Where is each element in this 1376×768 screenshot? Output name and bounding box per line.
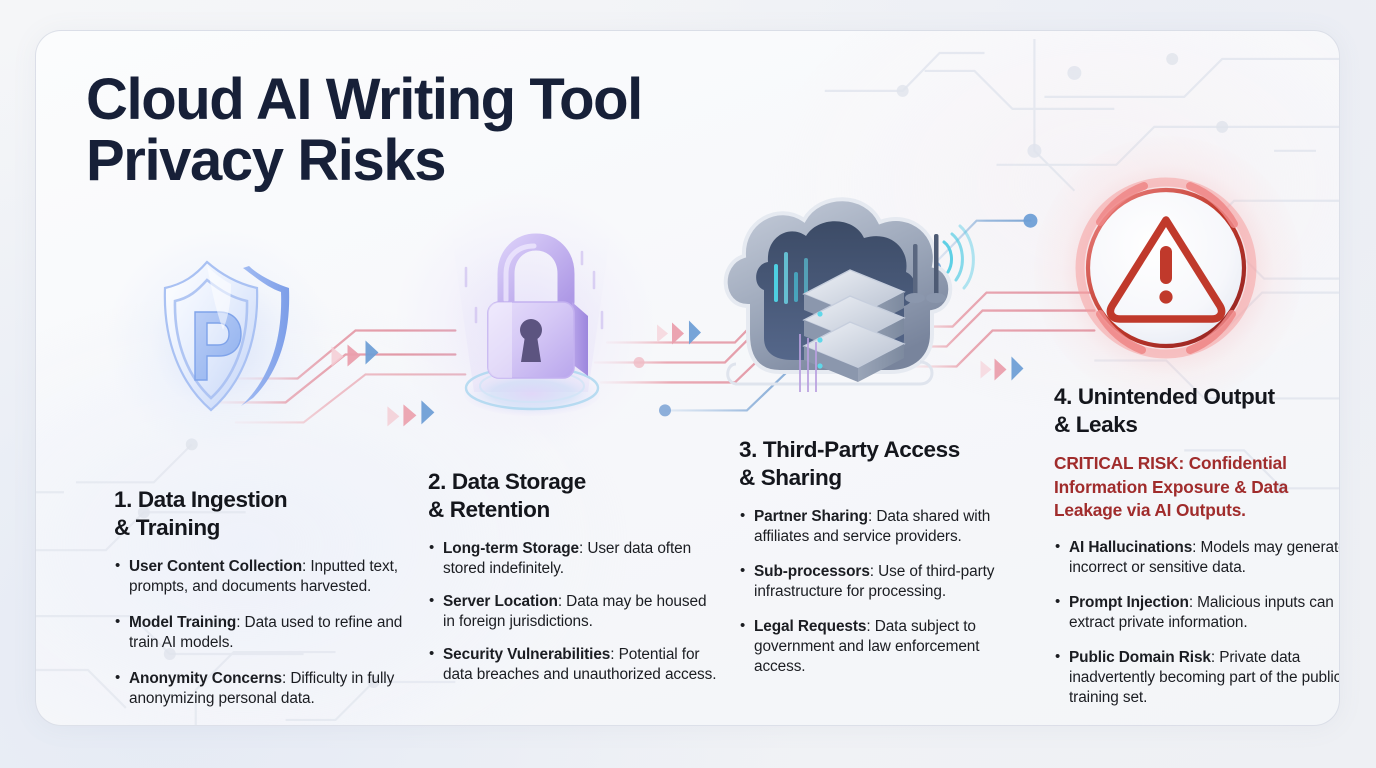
- infographic-card: Cloud AI Writing Tool Privacy Risks: [35, 30, 1340, 726]
- list-item: Security Vulnerabilities: Potential for …: [428, 645, 718, 685]
- bullet-term: Security Vulnerabilities: [443, 646, 610, 663]
- privacy-shield-icon: [131, 246, 306, 436]
- section-1-bullet-list: User Content Collection: Inputted text, …: [114, 557, 409, 709]
- cloud-server-icon: [708, 186, 998, 401]
- section-1-heading: 1. Data Ingestion & Training: [114, 486, 409, 543]
- list-item: Partner Sharing: Data shared with affili…: [739, 507, 1029, 547]
- bullet-term: Partner Sharing: [754, 508, 868, 525]
- list-item: Server Location: Data may be housed in f…: [428, 592, 718, 632]
- page-title: Cloud AI Writing Tool Privacy Risks: [86, 69, 706, 192]
- bullet-term: Model Training: [129, 614, 236, 631]
- bullet-term: Anonymity Concerns: [129, 670, 282, 687]
- section-unintended-output-leaks: 4. Unintended Output & Leaks CRITICAL RI…: [1054, 383, 1340, 723]
- section-third-party-access-sharing: 3. Third-Party Access & Sharing Partner …: [739, 436, 1029, 692]
- warning-alert-icon: [1064, 166, 1269, 371]
- bullet-term: Legal Requests: [754, 618, 866, 635]
- section-data-storage-retention: 2. Data Storage & Retention Long-term St…: [428, 468, 718, 685]
- bullet-term: Prompt Injection: [1069, 594, 1189, 611]
- bullet-term: Sub-processors: [754, 563, 870, 580]
- bullet-term: Server Location: [443, 593, 558, 610]
- list-item: Prompt Injection: Malicious inputs can e…: [1054, 593, 1340, 633]
- page-title-line-2: Privacy Risks: [86, 130, 706, 191]
- section-3-bullet-list: Partner Sharing: Data shared with affili…: [739, 507, 1029, 677]
- section-2-heading-line-1: 2. Data Storage: [428, 468, 718, 496]
- list-item: Legal Requests: Data subject to governme…: [739, 617, 1029, 677]
- critical-risk-callout: CRITICAL RISK: Confidential Information …: [1054, 452, 1340, 524]
- section-4-heading: 4. Unintended Output & Leaks: [1054, 383, 1340, 440]
- list-item: Long-term Storage: User data often store…: [428, 539, 718, 579]
- section-1-heading-line-2: & Training: [114, 514, 409, 542]
- section-3-heading-line-2: & Sharing: [739, 464, 1029, 492]
- bullet-term: User Content Collection: [129, 558, 302, 575]
- list-item: Anonymity Concerns: Difficulty in fully …: [114, 669, 409, 709]
- padlock-icon: [436, 216, 626, 421]
- section-2-heading-line-2: & Retention: [428, 496, 718, 524]
- infographic-canvas: Cloud AI Writing Tool Privacy Risks: [0, 0, 1376, 768]
- section-3-heading: 3. Third-Party Access & Sharing: [739, 436, 1029, 493]
- section-3-heading-line-1: 3. Third-Party Access: [739, 436, 1029, 464]
- list-item: User Content Collection: Inputted text, …: [114, 557, 409, 597]
- critical-risk-label: CRITICAL RISK:: [1054, 453, 1184, 473]
- bullet-term: AI Hallucinations: [1069, 539, 1192, 556]
- page-title-line-1: Cloud AI Writing Tool: [86, 69, 706, 130]
- section-data-ingestion-training: 1. Data Ingestion & Training User Conten…: [114, 486, 409, 725]
- list-item: AI Hallucinations: Models may generate i…: [1054, 538, 1340, 578]
- bullet-term: Long-term Storage: [443, 540, 579, 557]
- section-2-bullet-list: Long-term Storage: User data often store…: [428, 539, 718, 685]
- list-item: Model Training: Data used to refine and …: [114, 613, 409, 653]
- section-4-heading-line-1: 4. Unintended Output: [1054, 383, 1340, 411]
- section-4-heading-line-2: & Leaks: [1054, 411, 1340, 439]
- list-item: Sub-processors: Use of third-party infra…: [739, 562, 1029, 602]
- section-2-heading: 2. Data Storage & Retention: [428, 468, 718, 525]
- section-4-bullet-list: AI Hallucinations: Models may generate i…: [1054, 538, 1340, 708]
- list-item: Public Domain Risk: Private data inadver…: [1054, 648, 1340, 708]
- section-1-heading-line-1: 1. Data Ingestion: [114, 486, 409, 514]
- bullet-term: Public Domain Risk: [1069, 649, 1211, 666]
